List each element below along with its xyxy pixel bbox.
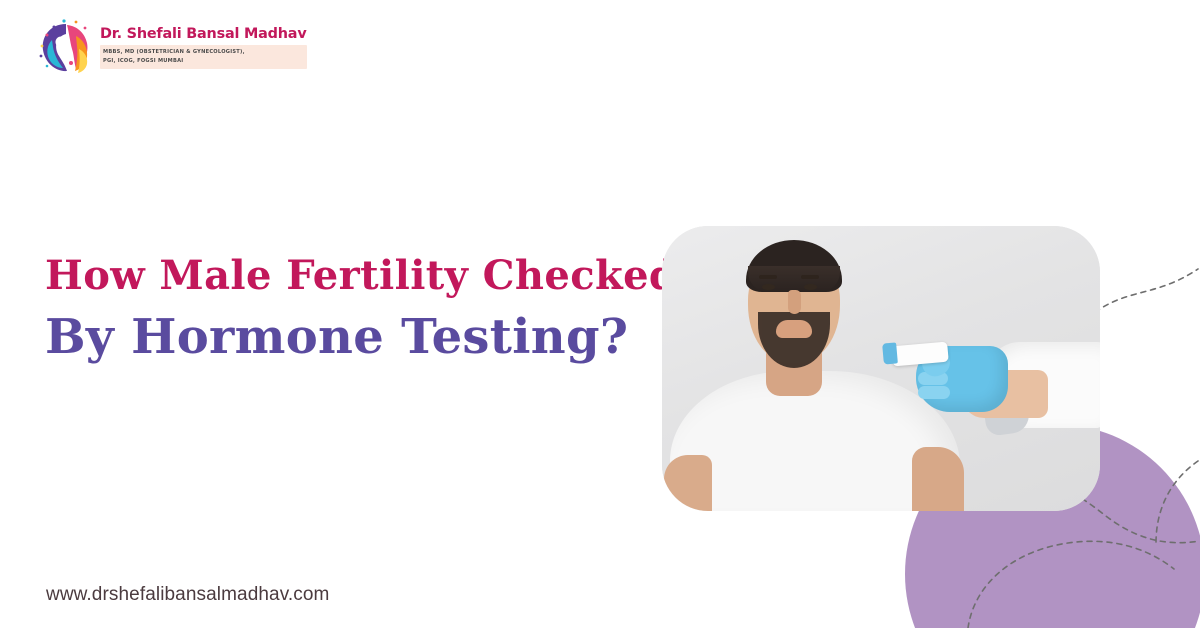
patient-eye-left: [762, 284, 775, 290]
patient-right-arm: [912, 447, 964, 511]
credentials-band: MBBS, MD (OBSTETRICIAN & GYNECOLOGIST), …: [100, 45, 307, 70]
credentials-line-1: MBBS, MD (OBSTETRICIAN & GYNECOLOGIST),: [103, 48, 303, 57]
patient-eyebrow-right: [801, 275, 819, 279]
patient-eyebrow-left: [759, 275, 777, 279]
doctor-name: Dr. Shefali Bansal Madhav: [100, 27, 307, 42]
headline-line-1: How Male Fertility Checked: [45, 252, 645, 301]
hero-photo: [662, 226, 1100, 511]
headline-line-2: By Hormone Testing?: [45, 307, 645, 367]
credentials-line-2: PGI, ICOG, FOGSI MUMBAI: [103, 57, 303, 66]
brand-logo[interactable]: Dr. Shefali Bansal Madhav MBBS, MD (OBST…: [38, 18, 307, 78]
mother-and-child-swirl-logo-icon: [38, 18, 94, 78]
promotional-banner: Dr. Shefali Bansal Madhav MBBS, MD (OBST…: [0, 0, 1200, 628]
specimen-container-cap: [882, 342, 898, 364]
patient-nose: [788, 290, 801, 314]
headline-group: How Male Fertility Checked By Hormone Te…: [45, 252, 645, 367]
patient-eye-right: [804, 284, 817, 290]
patient-left-arm: [664, 455, 712, 511]
website-url[interactable]: www.drshefalibansalmadhav.com: [46, 584, 329, 606]
logo-text-group: Dr. Shefali Bansal Madhav MBBS, MD (OBST…: [100, 27, 307, 70]
glove-finger: [918, 386, 950, 399]
